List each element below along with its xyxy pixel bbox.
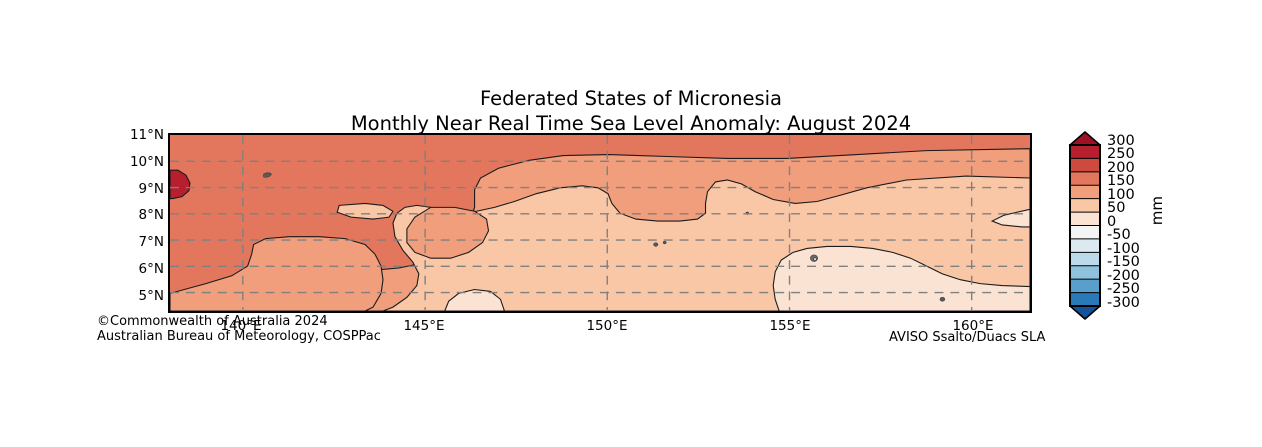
colorbar-unit-label: mm xyxy=(1148,196,1166,225)
y-tick-10n: 10°N xyxy=(102,154,164,170)
y-tick-8n: 8°N xyxy=(102,207,164,223)
x-tick-145e: 145°E xyxy=(384,318,464,334)
y-tick-11n: 11°N xyxy=(102,127,164,143)
colorbar-band-250-300 xyxy=(1070,145,1100,158)
colorbar-band-m200-m150 xyxy=(1070,266,1100,279)
colorbar-band-m50-0 xyxy=(1070,226,1100,239)
colorbar-tick-labels: 300 250 200 150 100 50 0 -50 -100 -150 -… xyxy=(1107,131,1167,320)
colorbar-band-50-100 xyxy=(1070,199,1100,212)
colorbar-extend-min xyxy=(1070,306,1100,319)
colorbar-band-0-50 xyxy=(1070,212,1100,225)
colorbar-band-m250-m200 xyxy=(1070,279,1100,292)
y-tick-6n: 6°N xyxy=(102,261,164,277)
colorbar xyxy=(1068,131,1102,320)
x-tick-155e: 155°E xyxy=(750,318,830,334)
colorbar-band-100-150 xyxy=(1070,185,1100,198)
colorbar-band-m150-m100 xyxy=(1070,252,1100,265)
data-source-credit: AVISO Ssalto/Duacs SLA xyxy=(889,330,1045,345)
y-tick-9n: 9°N xyxy=(102,181,164,197)
copyright-credit: ©Commonwealth of Australia 2024 Australi… xyxy=(97,315,381,344)
y-tick-5n: 5°N xyxy=(102,288,164,304)
cbar-tick-m300: -300 xyxy=(1107,296,1140,311)
colorbar-band-150-200 xyxy=(1070,172,1100,185)
colorbar-swatches xyxy=(1068,131,1102,320)
colorbar-band-m300-m250 xyxy=(1070,293,1100,306)
colorbar-band-200-250 xyxy=(1070,158,1100,171)
x-tick-150e: 150°E xyxy=(567,318,647,334)
y-tick-7n: 7°N xyxy=(102,234,164,250)
copyright-line-1: ©Commonwealth of Australia 2024 xyxy=(97,315,381,330)
sea-level-anomaly-figure: Federated States of Micronesia Monthly N… xyxy=(0,0,1262,447)
colorbar-extend-max xyxy=(1070,132,1100,145)
copyright-line-2: Australian Bureau of Meteorology, COSPPa… xyxy=(97,330,381,345)
colorbar-band-m100-m50 xyxy=(1070,239,1100,252)
